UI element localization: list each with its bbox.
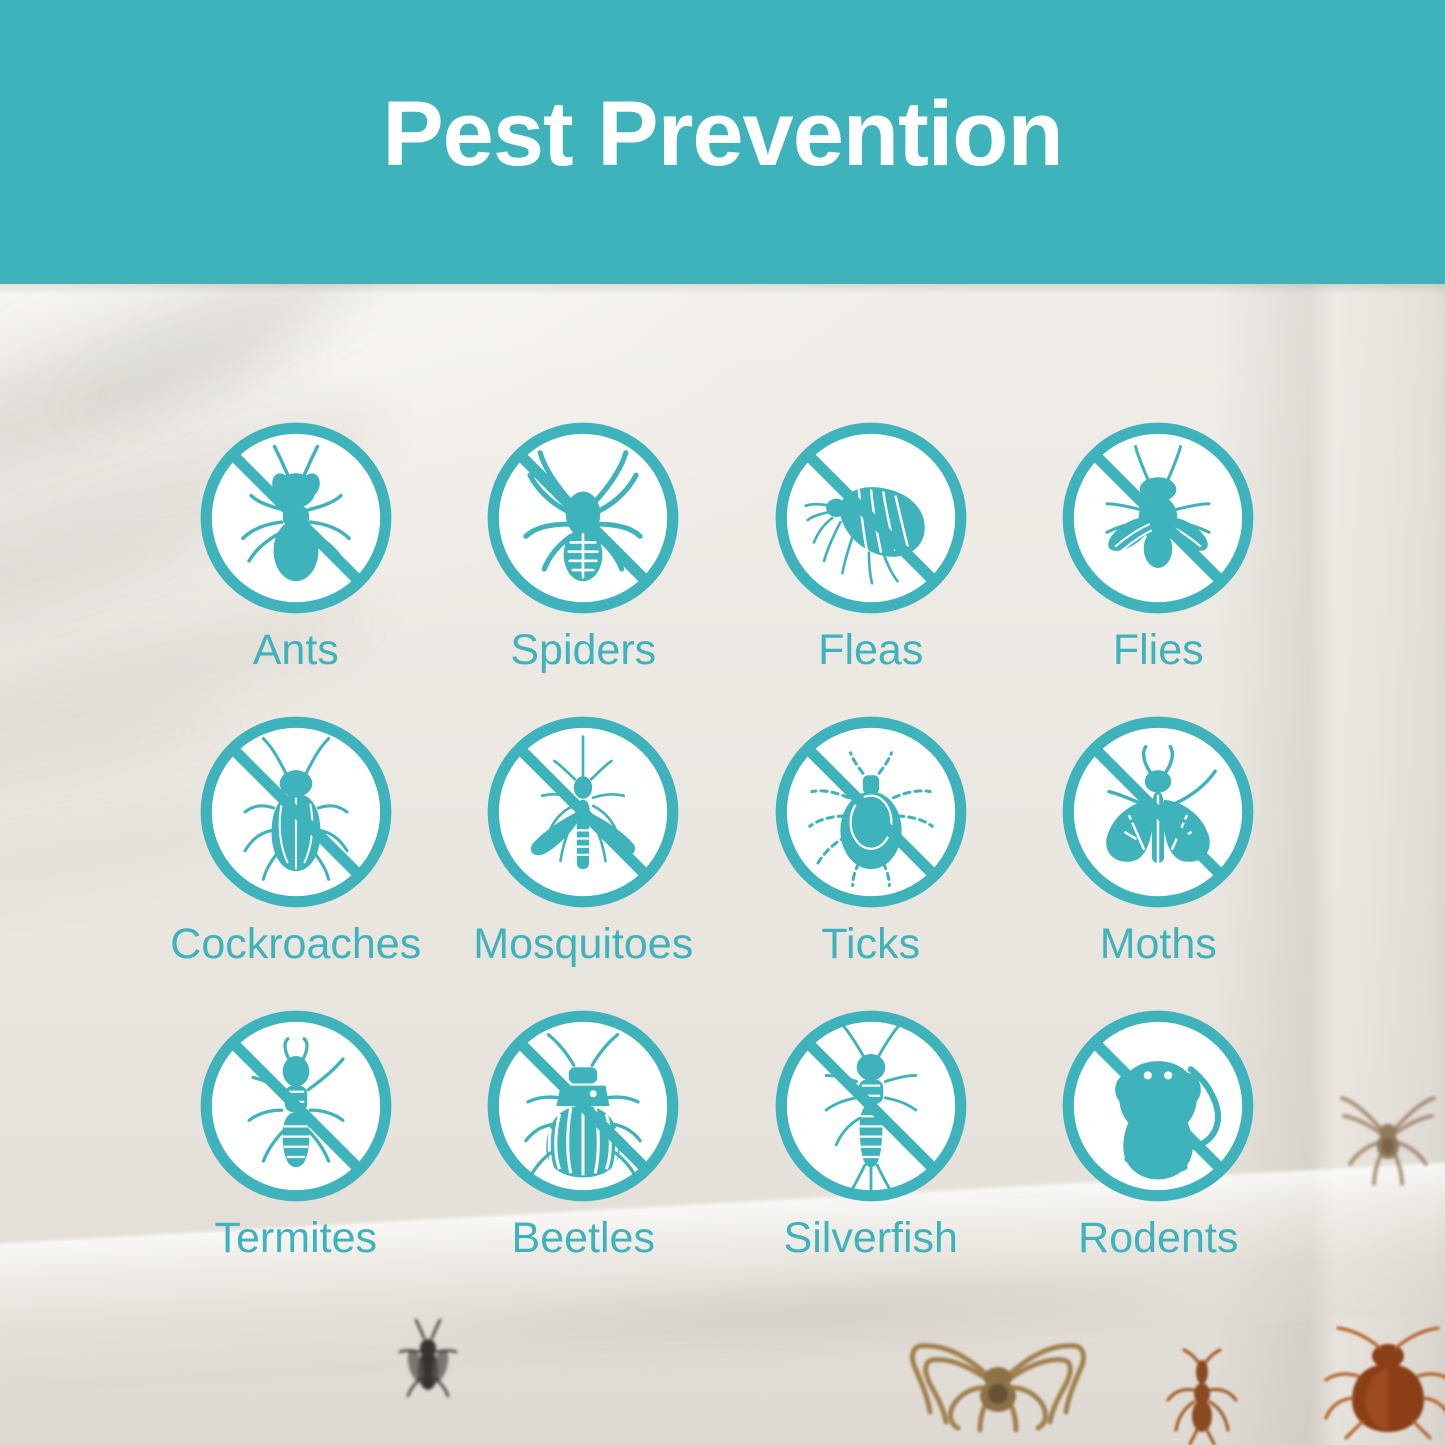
cockroach-photo — [1318, 1328, 1445, 1438]
pest-cell-fleas[interactable]: Fleas — [727, 416, 1015, 710]
pest-cell-ants[interactable]: Ants — [152, 416, 440, 710]
no-ant-icon — [194, 416, 398, 620]
fly-photo — [392, 1318, 464, 1408]
pest-cell-beetles[interactable]: Beetles — [440, 1004, 728, 1298]
pest-label: Moths — [1100, 922, 1217, 967]
pest-cell-termites[interactable]: Termites — [152, 1004, 440, 1298]
pest-cell-silverfish[interactable]: Silverfish — [727, 1004, 1015, 1298]
pest-label: Termites — [215, 1216, 377, 1261]
no-flea-icon — [769, 416, 973, 620]
no-silverfish-icon — [769, 1004, 973, 1208]
pest-cell-ticks[interactable]: Ticks — [727, 710, 1015, 1004]
no-rodent-icon — [1056, 1004, 1260, 1208]
pest-label: Ticks — [821, 922, 920, 967]
no-spider-icon — [481, 416, 685, 620]
pest-label: Mosquitoes — [473, 922, 693, 967]
pest-label: Flies — [1113, 628, 1204, 673]
header-drop-shadow — [0, 284, 1445, 294]
pest-cell-rodents[interactable]: Rodents — [1015, 1004, 1303, 1298]
page-title: Pest Prevention — [382, 88, 1062, 180]
spider-edge-photo — [1332, 1082, 1444, 1192]
no-beetle-icon — [481, 1004, 685, 1208]
pest-cell-cockroaches[interactable]: Cockroaches — [152, 710, 440, 1004]
no-cockroach-icon — [194, 710, 398, 914]
pest-label: Ants — [253, 628, 339, 673]
pest-label: Fleas — [818, 628, 923, 673]
no-moth-icon — [1056, 710, 1260, 914]
no-mosquito-icon — [481, 710, 685, 914]
pest-cell-spiders[interactable]: Spiders — [440, 416, 728, 710]
pest-label: Spiders — [510, 628, 656, 673]
pest-label: Beetles — [512, 1216, 655, 1261]
pest-label: Silverfish — [784, 1216, 958, 1261]
no-termite-icon — [194, 1004, 398, 1208]
ant-photo — [1160, 1350, 1244, 1445]
no-tick-icon — [769, 710, 973, 914]
pest-label: Cockroaches — [170, 922, 421, 967]
pest-cell-moths[interactable]: Moths — [1015, 710, 1303, 1004]
pest-grid: Ants — [152, 416, 1302, 1298]
pest-label: Rodents — [1078, 1216, 1238, 1261]
no-fly-icon — [1056, 416, 1260, 620]
spider-photo — [900, 1330, 1096, 1445]
pest-cell-flies[interactable]: Flies — [1015, 416, 1303, 710]
pest-cell-mosquitoes[interactable]: Mosquitoes — [440, 710, 728, 1004]
header-banner: Pest Prevention — [0, 0, 1445, 284]
